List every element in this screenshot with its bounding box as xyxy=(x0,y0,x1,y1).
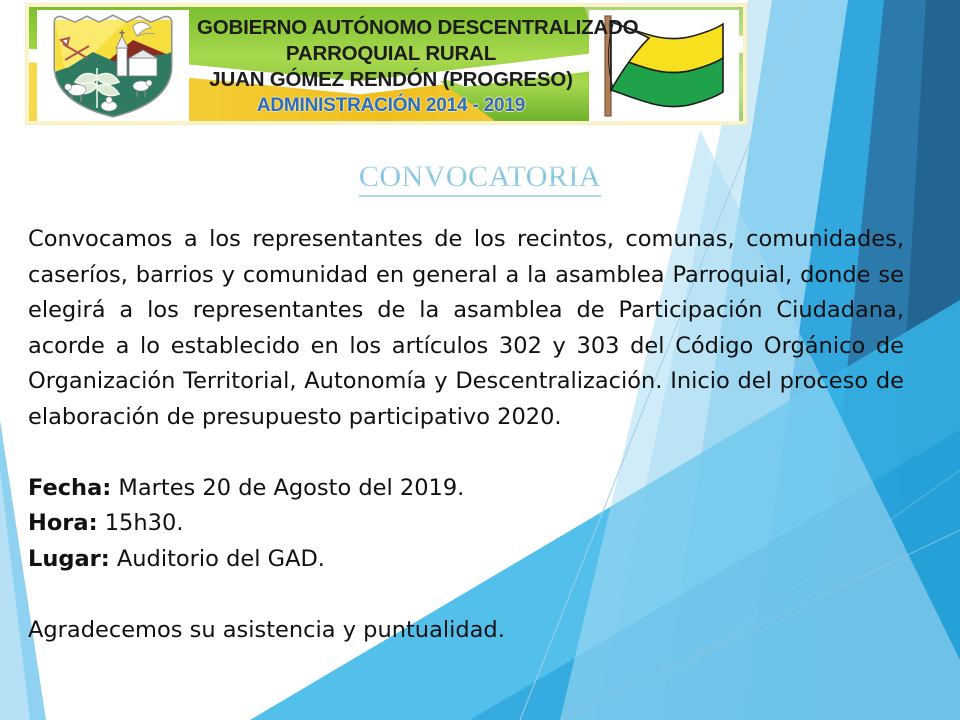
event-details-list: Fecha: Martes 20 de Agosto del 2019. Hor… xyxy=(28,471,904,578)
detail-label-hora: Hora: xyxy=(28,510,98,536)
banner-line-2: PARROQUIAL RURAL xyxy=(197,41,585,67)
detail-value-fecha: Martes 20 de Agosto del 2019. xyxy=(118,475,464,501)
page-title: CONVOCATORIA xyxy=(0,160,960,197)
detail-label-lugar: Lugar: xyxy=(28,546,110,572)
slide-canvas: GOBIERNO AUTÓNOMO DESCENTRALIZADO PARROQ… xyxy=(0,0,960,720)
banner-line-1: GOBIERNO AUTÓNOMO DESCENTRALIZADO xyxy=(197,15,585,41)
slide-body: Convocamos a los representantes de los r… xyxy=(28,222,904,648)
coat-of-arms-shield-icon xyxy=(37,10,189,121)
closing-line: Agradecemos su asistencia y puntualidad. xyxy=(28,613,904,649)
detail-row-lugar: Lugar: Auditorio del GAD. xyxy=(28,542,904,578)
banner-title-block: GOBIERNO AUTÓNOMO DESCENTRALIZADO PARROQ… xyxy=(197,15,585,118)
header-banner-inner: GOBIERNO AUTÓNOMO DESCENTRALIZADO PARROQ… xyxy=(29,7,743,121)
detail-label-fecha: Fecha: xyxy=(28,475,111,501)
page-title-text: CONVOCATORIA xyxy=(359,160,601,197)
detail-row-hora: Hora: 15h30. xyxy=(28,506,904,542)
details-spacer xyxy=(28,577,904,613)
body-paragraph: Convocamos a los representantes de los r… xyxy=(28,222,904,435)
facet-shape-left-wedge-pale xyxy=(0,470,30,720)
banner-line-3: JUAN GÓMEZ RENDÓN (PROGRESO) xyxy=(197,67,585,93)
detail-value-lugar: Auditorio del GAD. xyxy=(117,546,325,572)
header-banner: GOBIERNO AUTÓNOMO DESCENTRALIZADO PARROQ… xyxy=(26,4,746,124)
detail-row-fecha: Fecha: Martes 20 de Agosto del 2019. xyxy=(28,471,904,507)
paragraph-spacer xyxy=(28,435,904,471)
banner-line-4-administration: ADMINISTRACIÓN 2014 - 2019 xyxy=(197,94,585,118)
detail-value-hora: 15h30. xyxy=(105,510,184,536)
